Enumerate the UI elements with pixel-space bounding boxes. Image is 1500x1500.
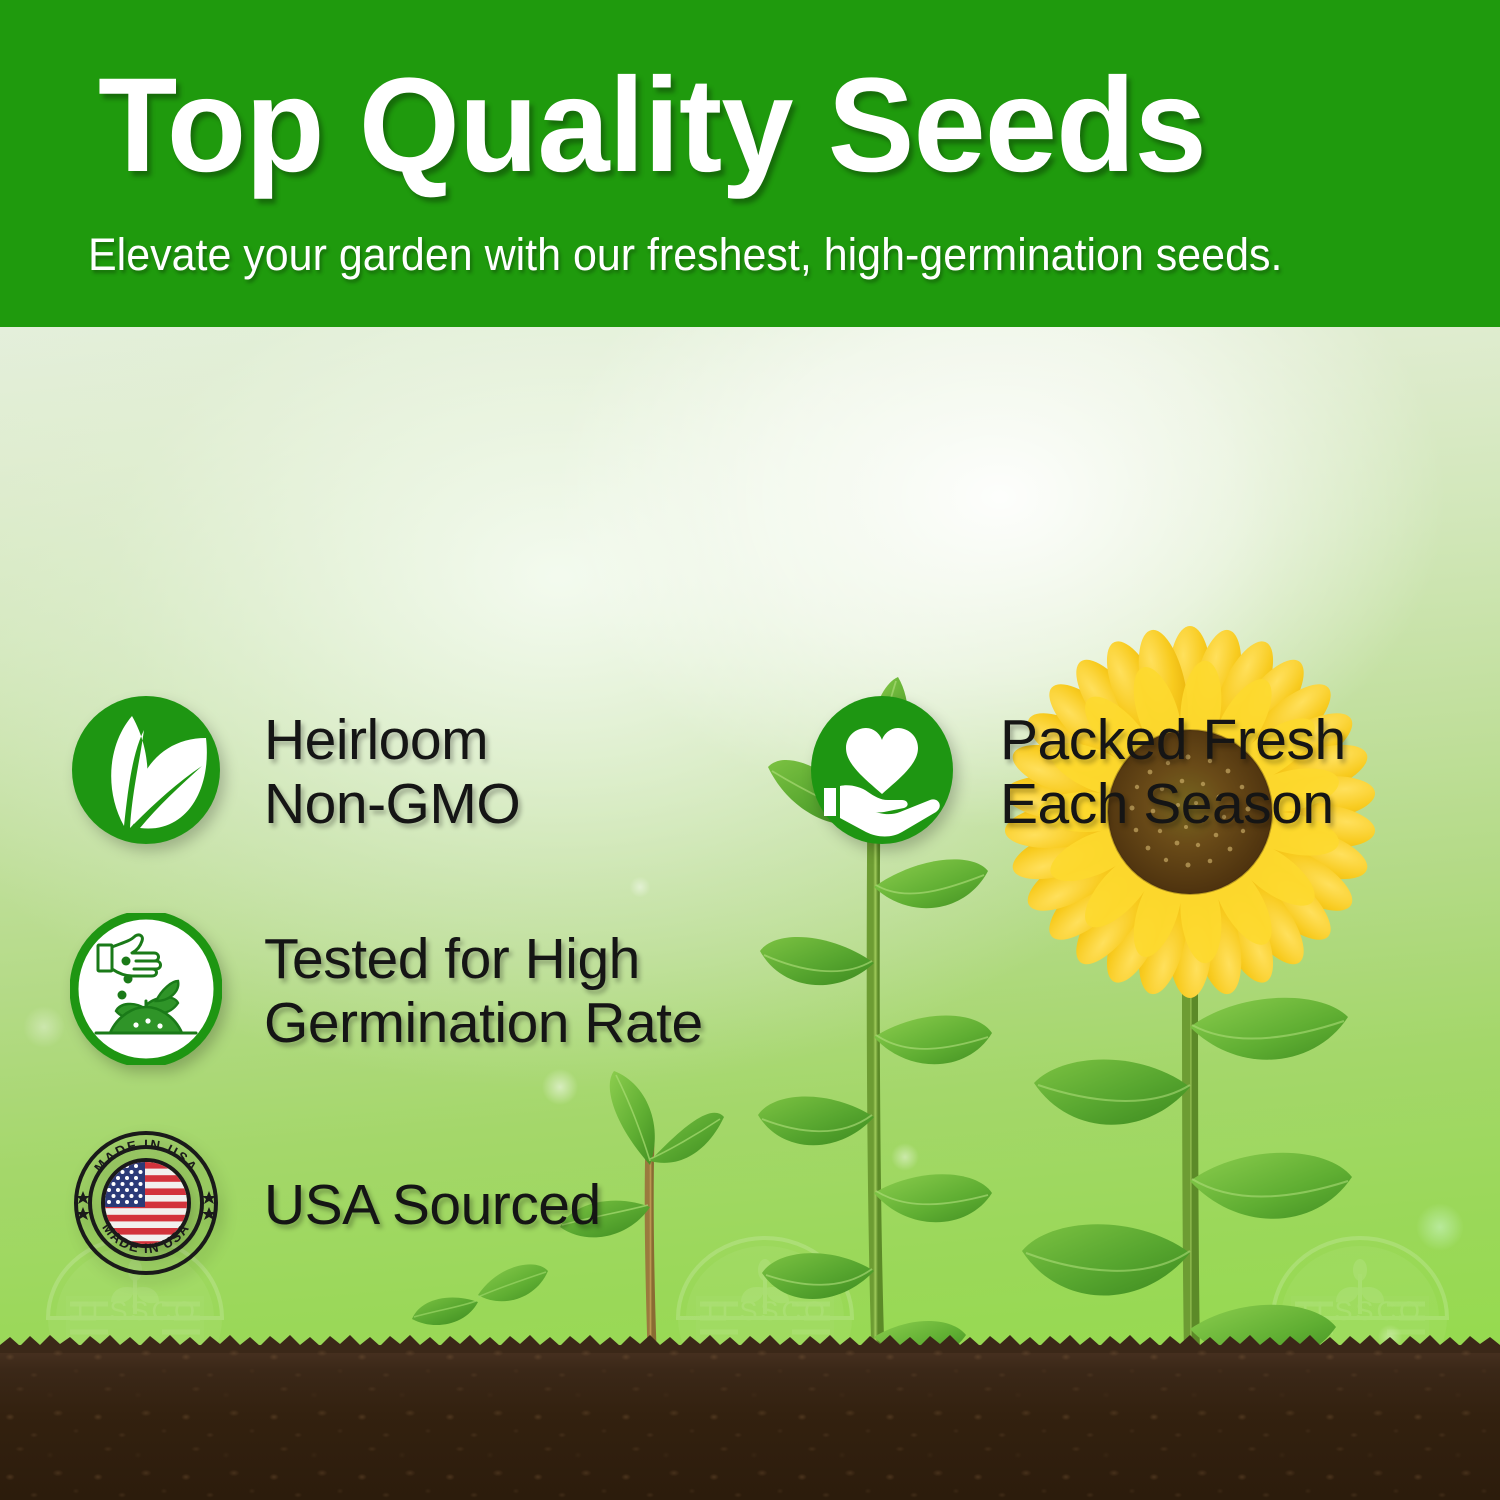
soil-band bbox=[0, 1345, 1500, 1500]
feature-germination-rate[interactable]: Tested for High Germination Rate bbox=[70, 913, 703, 1070]
page-subtitle: Elevate your garden with our freshest, h… bbox=[88, 232, 1282, 277]
soil-texture bbox=[0, 1345, 1500, 1500]
feature-label: Packed Fresh Each Season bbox=[1000, 709, 1346, 837]
feature-label: USA Sourced bbox=[264, 1174, 601, 1238]
header-band: Top Quality Seeds Elevate your garden wi… bbox=[0, 0, 1500, 327]
feature-label: Heirloom Non-GMO bbox=[264, 709, 520, 837]
feature-usa-sourced[interactable]: MADE IN USA MADE IN USA USA Sourced bbox=[70, 1127, 601, 1284]
made-in-usa-badge-icon: MADE IN USA MADE IN USA bbox=[70, 1127, 222, 1284]
feature-heirloom-non-gmo[interactable]: Heirloom Non-GMO bbox=[70, 694, 520, 851]
leaf-icon bbox=[70, 694, 222, 851]
feature-packed-fresh[interactable]: Packed Fresh Each Season bbox=[806, 694, 1346, 851]
promo-banner: Top Quality Seeds Elevate your garden wi… bbox=[0, 0, 1500, 1500]
hand-seed-sprout-icon bbox=[70, 913, 222, 1070]
illustration-scene: TLSSCO bbox=[0, 327, 1500, 1500]
feature-label: Tested for High Germination Rate bbox=[264, 928, 703, 1056]
page-title: Top Quality Seeds bbox=[98, 58, 1206, 195]
hand-heart-icon bbox=[806, 694, 958, 851]
